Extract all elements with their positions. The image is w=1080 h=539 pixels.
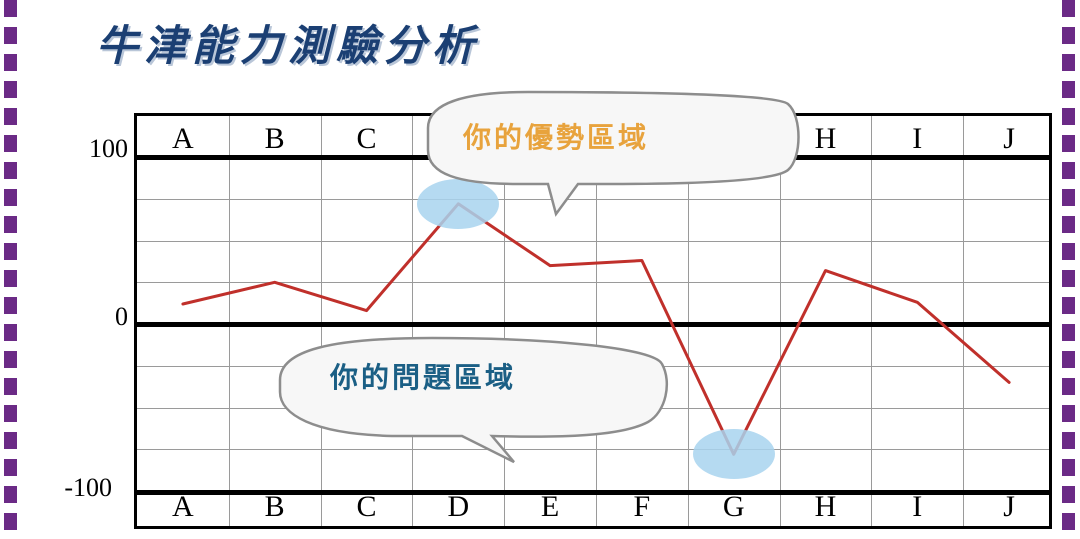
x-axis-label-bottom-g: G <box>714 490 754 524</box>
border-dash <box>4 432 17 449</box>
border-dash <box>1062 243 1075 260</box>
border-dash <box>4 81 17 98</box>
border-dash <box>1062 189 1075 206</box>
horizontal-gridline <box>137 241 1049 242</box>
border-dash <box>1062 108 1075 125</box>
border-dash <box>4 54 17 71</box>
horizontal-gridline <box>137 282 1049 283</box>
border-dash <box>1062 432 1075 449</box>
border-dash <box>1062 162 1075 179</box>
x-axis-label-bottom-d: D <box>438 490 478 524</box>
vertical-gridline <box>229 116 230 526</box>
x-axis-label-bottom-e: E <box>530 490 570 524</box>
x-axis-label-top-j: J <box>989 122 1029 156</box>
x-axis-label-bottom-b: B <box>255 490 295 524</box>
border-dash <box>4 486 17 503</box>
border-dash <box>1062 216 1075 233</box>
border-dash <box>4 270 17 287</box>
y-axis-label-minus-100: -100 <box>42 473 112 503</box>
x-axis-label-bottom-c: C <box>347 490 387 524</box>
problem-callout: 你的問題區域 <box>262 330 682 474</box>
y-axis-label-0: 0 <box>58 302 128 332</box>
border-dash <box>1062 405 1075 422</box>
border-dash <box>4 243 17 260</box>
border-dash <box>1062 486 1075 503</box>
x-axis-label-bottom-a: A <box>163 490 203 524</box>
border-dash <box>4 27 17 44</box>
slide-canvas: 牛津能力測驗分析 AABBCCDDEEFFGGHHIIJJ 100 0 -100… <box>0 0 1080 539</box>
border-dash <box>1062 351 1075 368</box>
vertical-gridline <box>963 116 964 526</box>
problem-callout-text: 你的問題區域 <box>330 356 516 396</box>
border-dash <box>1062 81 1075 98</box>
border-dash <box>1062 378 1075 395</box>
y-axis-label-100: 100 <box>58 134 128 164</box>
border-dash <box>4 405 17 422</box>
page-title: 牛津能力測驗分析 <box>96 12 480 73</box>
problem-highlight-ellipse <box>693 429 775 479</box>
border-dash <box>1062 0 1075 17</box>
border-dash <box>4 324 17 341</box>
border-dash <box>1062 54 1075 71</box>
border-dash <box>4 189 17 206</box>
border-dash <box>4 513 17 530</box>
border-dash <box>4 216 17 233</box>
border-dash <box>4 459 17 476</box>
border-dash <box>1062 324 1075 341</box>
border-dash <box>4 378 17 395</box>
border-dash <box>4 108 17 125</box>
left-dashed-border <box>4 0 18 539</box>
border-dash <box>1062 27 1075 44</box>
border-dash <box>1062 270 1075 287</box>
x-axis-label-bottom-i: I <box>897 490 937 524</box>
strength-callout-text: 你的優勢區域 <box>463 116 649 156</box>
border-dash <box>4 351 17 368</box>
axis-line-zero <box>137 322 1049 327</box>
x-axis-label-top-i: I <box>897 122 937 156</box>
right-dashed-border <box>1062 0 1076 539</box>
border-dash <box>1062 513 1075 530</box>
border-dash <box>1062 135 1075 152</box>
border-dash <box>4 162 17 179</box>
x-axis-label-top-c: C <box>347 122 387 156</box>
x-axis-label-top-h: H <box>806 122 846 156</box>
strength-callout: 你的優勢區域 <box>408 88 808 222</box>
x-axis-label-bottom-h: H <box>806 490 846 524</box>
problem-callout-shape <box>262 330 682 470</box>
border-dash <box>4 0 17 17</box>
border-dash <box>4 135 17 152</box>
x-axis-label-top-b: B <box>255 122 295 156</box>
border-dash <box>1062 459 1075 476</box>
border-dash <box>4 297 17 314</box>
x-axis-label-bottom-f: F <box>622 490 662 524</box>
border-dash <box>1062 297 1075 314</box>
x-axis-label-top-a: A <box>163 122 203 156</box>
vertical-gridline <box>871 116 872 526</box>
x-axis-label-bottom-j: J <box>989 490 1029 524</box>
